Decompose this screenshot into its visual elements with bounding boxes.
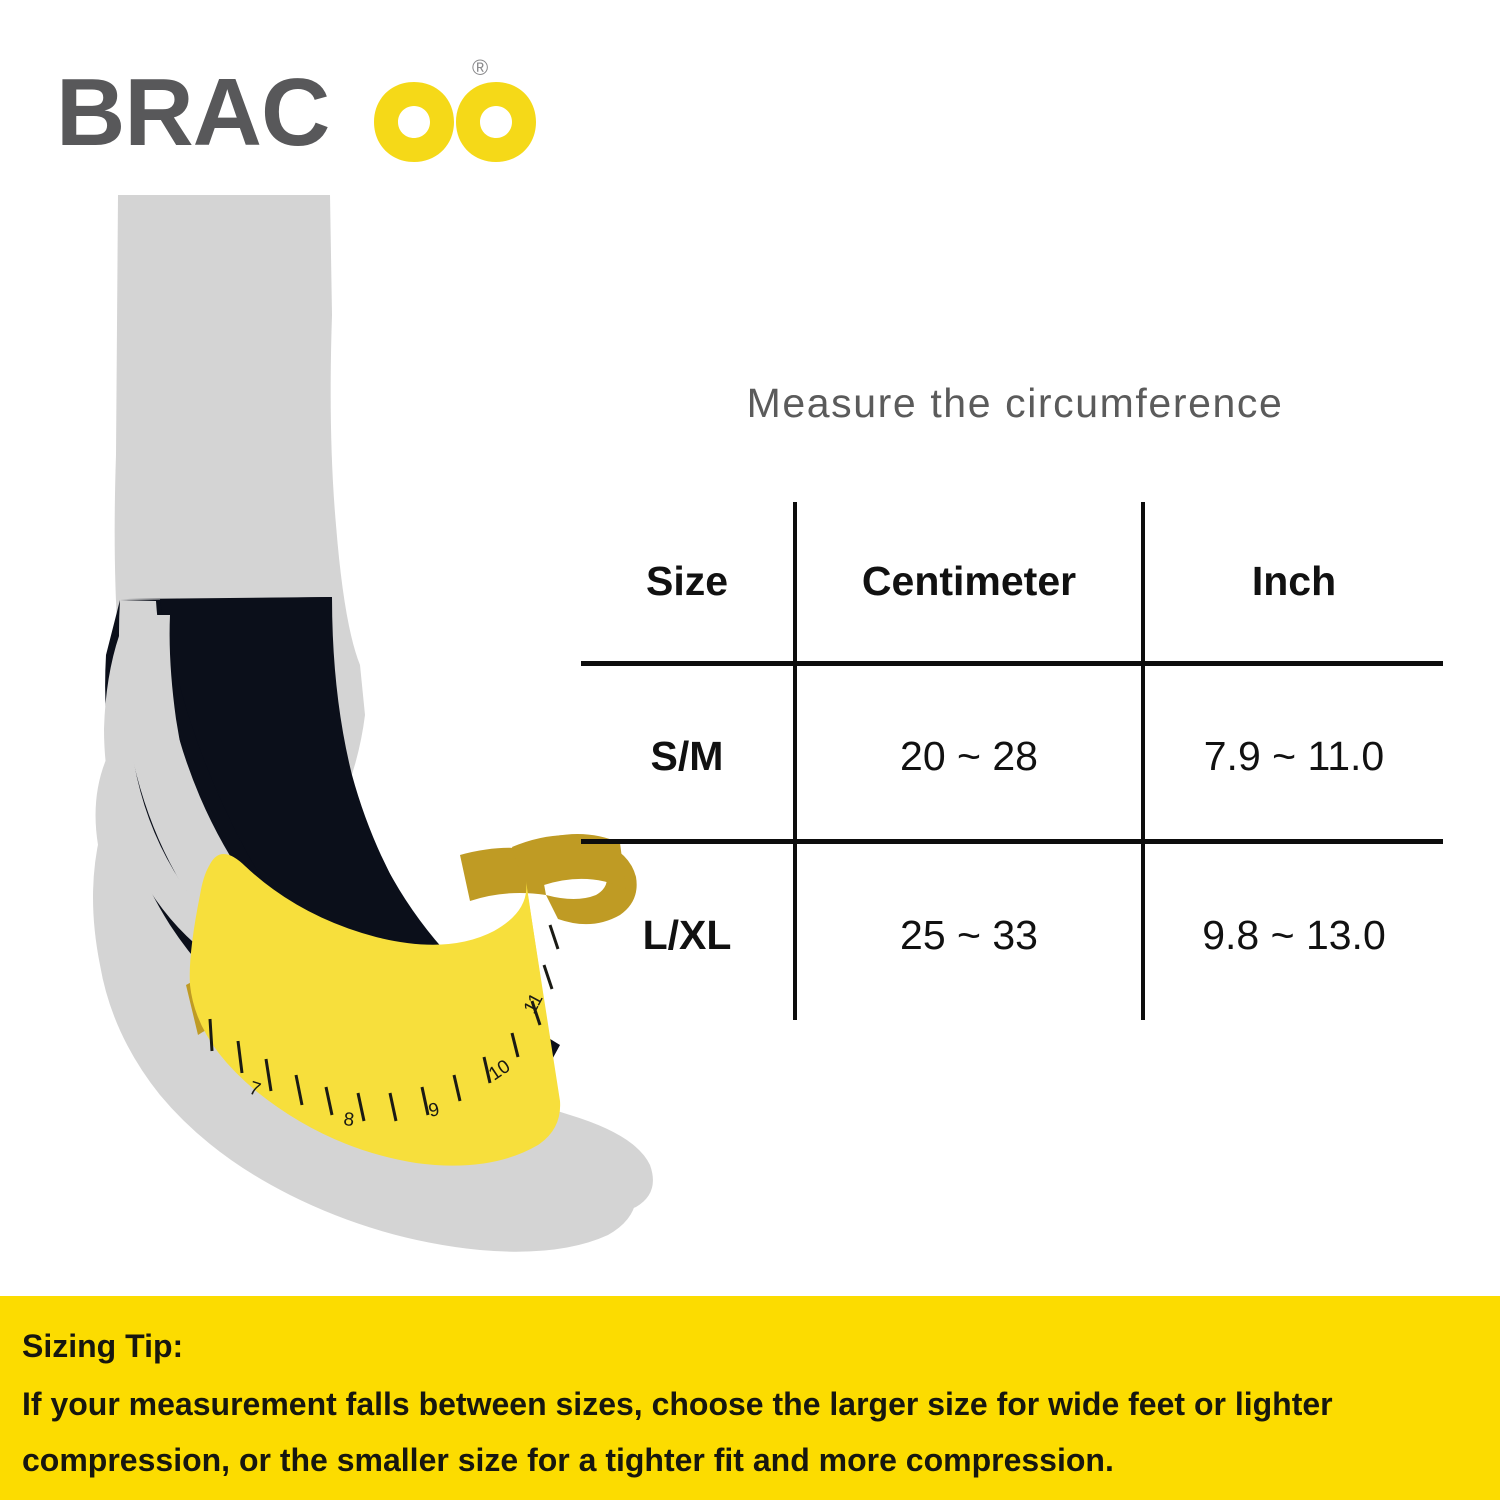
table-row: L/XL [581, 912, 793, 959]
tape-number-8: 8 [342, 1109, 355, 1131]
sizing-tip-banner: Sizing Tip: If your measurement falls be… [0, 1296, 1500, 1500]
column-header-size: Size [581, 558, 793, 605]
brand-wordmark: BRAC [56, 58, 329, 168]
registered-trademark-icon: ® [472, 55, 488, 81]
sizing-tip-title: Sizing Tip: [22, 1322, 1478, 1370]
brand-logo: BRAC ® [56, 58, 526, 173]
size-table: Size Centimeter Inch S/M 20 ~ 28 7.9 ~ 1… [560, 480, 1470, 1030]
table-row: 25 ~ 33 [797, 912, 1141, 959]
table-row: S/M [581, 733, 793, 780]
table-row: 9.8 ~ 13.0 [1145, 912, 1443, 959]
table-row: 7.9 ~ 11.0 [1145, 733, 1443, 780]
table-row: 20 ~ 28 [797, 733, 1141, 780]
table-horizontal-rule-1 [581, 661, 1443, 666]
column-header-inch: Inch [1145, 558, 1443, 605]
sizing-tip-body: If your measurement falls between sizes,… [22, 1376, 1467, 1488]
panel-title: Measure the circumference [560, 380, 1470, 427]
interlocking-rings-icon [372, 80, 542, 164]
table-horizontal-rule-2 [581, 839, 1443, 844]
column-header-centimeter: Centimeter [797, 558, 1141, 605]
size-table-panel: Measure the circumference Size Centimete… [560, 380, 1470, 1030]
sizing-tip-content: Sizing Tip: If your measurement falls be… [22, 1322, 1478, 1488]
